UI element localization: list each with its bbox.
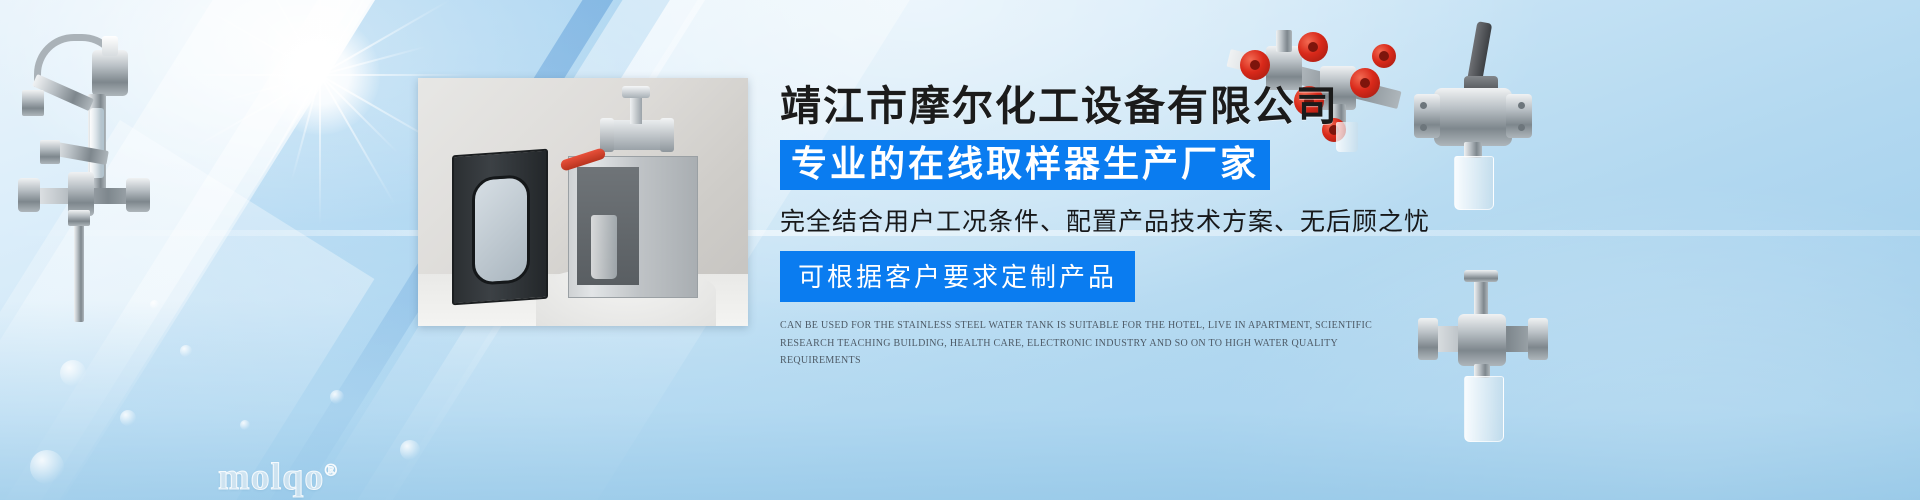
watermark-registered-mark: ® [324, 460, 338, 479]
valve-flange-right [660, 118, 674, 152]
right-equipment-bottom-image [1418, 278, 1548, 458]
water-droplet [330, 390, 344, 404]
valve-stem [630, 96, 642, 124]
watermark-text: molqo [218, 456, 324, 498]
right-equipment-mid-image [1414, 22, 1534, 212]
sampler-cabinet [568, 156, 698, 298]
valve-flange-left [600, 118, 614, 152]
valve-body [608, 120, 666, 150]
water-droplet [240, 420, 250, 430]
subline-text: 完全结合用户工况条件、配置产品技术方案、无后顾之忧 [780, 202, 1400, 238]
water-droplet [180, 345, 192, 357]
left-equipment-image [10, 28, 160, 318]
cabinet-door-window [472, 174, 530, 286]
banner-text-block: 靖江市摩尔化工设备有限公司 专业的在线取样器生产厂家 完全结合用户工况条件、配置… [780, 72, 1400, 370]
company-name: 靖江市摩尔化工设备有限公司 [780, 72, 1400, 132]
fineprint-text: CAN BE USED FOR THE STAINLESS STEEL WATE… [780, 317, 1380, 370]
water-droplet [120, 410, 136, 426]
headline-badge: 专业的在线取样器生产厂家 [780, 140, 1270, 190]
cabinet-interior [577, 167, 639, 285]
sampler-valve-head [600, 102, 674, 168]
red-handwheel [1298, 32, 1328, 62]
sample-bottle [591, 215, 617, 279]
water-droplet [60, 360, 86, 386]
red-handwheel [1372, 44, 1396, 68]
cabinet-door [452, 149, 548, 306]
promotional-banner: 靖江市摩尔化工设备有限公司 专业的在线取样器生产厂家 完全结合用户工况条件、配置… [0, 0, 1920, 500]
water-droplet [30, 450, 64, 484]
sun-core [260, 15, 380, 135]
product-photo [418, 78, 748, 326]
tagline-badge: 可根据客户要求定制产品 [780, 251, 1135, 302]
watermark-logo: molqo® [218, 455, 338, 499]
valve-knob [622, 86, 650, 98]
water-droplet [400, 440, 420, 460]
